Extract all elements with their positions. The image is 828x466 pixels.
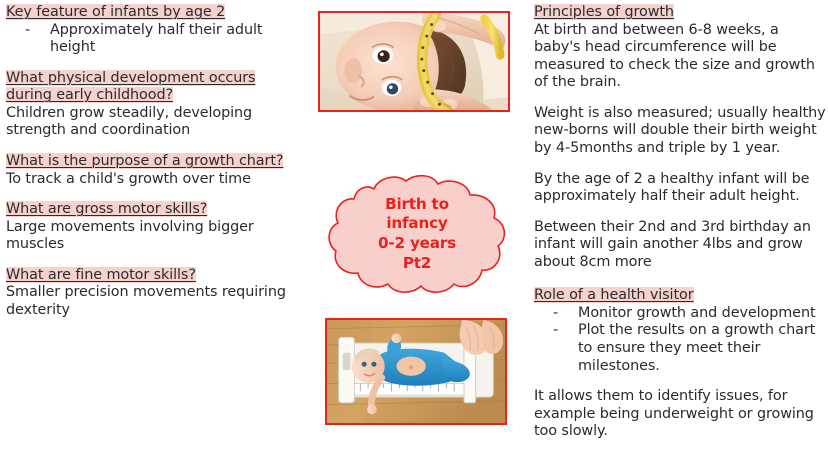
cloud-label: Birth to infancy 0-2 years Pt2 [326, 173, 508, 295]
content-block: What is the purpose of a growth chart? T… [6, 153, 291, 188]
block-paragraph: To track a child's growth over time [6, 171, 291, 189]
block-paragraph: It allows them to identify issues, for e… [534, 388, 826, 441]
block-heading: Key feature of infants by age 2 [6, 4, 225, 20]
baby-head-circumference-illustration [320, 13, 508, 110]
block-heading-line: What are gross motor skills? [6, 201, 291, 219]
block-paragraph: Children grow steadily, developing stren… [6, 105, 291, 140]
block-heading: What are fine motor skills? [6, 267, 196, 283]
block-heading-line: What are fine motor skills? [6, 267, 291, 285]
baby-length-measurement-photo [325, 318, 507, 425]
block-heading-line: What is the purpose of a growth chart? [6, 153, 291, 171]
block-heading: Role of a health visitor [534, 287, 694, 303]
bullet-list: Approximately half their adult height [6, 22, 291, 57]
bullet-list: Monitor growth and development Plot the … [534, 305, 826, 375]
content-block: Role of a health visitor Monitor growth … [534, 287, 826, 441]
bullet-item: Monitor growth and development [534, 305, 826, 323]
slide-canvas: Key feature of infants by age 2 Approxim… [0, 0, 828, 466]
bullet-item: Approximately half their adult height [6, 22, 291, 57]
content-block: What physical development occurs during … [6, 70, 291, 140]
cloud-line-4: Pt2 [403, 254, 431, 274]
baby-head-circumference-photo [318, 11, 510, 112]
topic-cloud-callout: Birth to infancy 0-2 years Pt2 [326, 173, 508, 295]
block-heading: What is the purpose of a growth chart? [6, 153, 283, 169]
block-heading-line: What physical development occurs during … [6, 70, 291, 105]
baby-length-measurement-illustration [327, 320, 505, 423]
content-block: Key feature of infants by age 2 Approxim… [6, 4, 291, 57]
right-text-column: Principles of growth At birth and betwee… [534, 4, 826, 441]
block-paragraph: Large movements involving bigger muscles [6, 219, 291, 254]
block-paragraph: Smaller precision movements requiring de… [6, 284, 291, 319]
cloud-line-1: Birth to [385, 195, 449, 215]
content-block: What are fine motor skills? Smaller prec… [6, 267, 291, 320]
block-heading-line: Key feature of infants by age 2 [6, 4, 291, 22]
block-paragraph: At birth and between 6-8 weeks, a baby's… [534, 22, 826, 92]
bullet-item: Plot the results on a growth chart to en… [534, 322, 826, 375]
block-paragraph: Between their 2nd and 3rd birthday an in… [534, 219, 826, 272]
cloud-line-3: 0-2 years [378, 234, 456, 254]
left-text-column: Key feature of infants by age 2 Approxim… [6, 4, 291, 319]
content-block: What are gross motor skills? Large movem… [6, 201, 291, 254]
block-paragraph: By the age of 2 a healthy infant will be… [534, 171, 826, 206]
content-block: Principles of growth At birth and betwee… [534, 4, 826, 271]
block-paragraph: Weight is also measured; usually healthy… [534, 105, 826, 158]
block-heading: What are gross motor skills? [6, 201, 207, 217]
block-heading-line: Principles of growth [534, 4, 826, 22]
block-heading: Principles of growth [534, 4, 674, 20]
block-heading-line: Role of a health visitor [534, 287, 826, 305]
cloud-line-2: infancy [386, 214, 447, 234]
block-heading: What physical development occurs during … [6, 70, 255, 104]
